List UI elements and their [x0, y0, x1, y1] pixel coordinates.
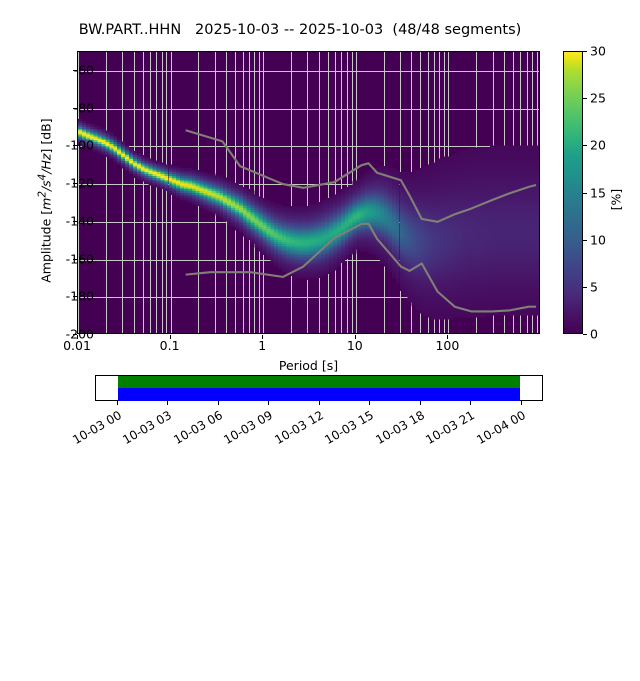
colorbar-tick-label: 25	[590, 91, 606, 106]
x-tick-label: 0.1	[160, 338, 180, 353]
data-coverage-timeline[interactable]	[95, 375, 543, 401]
colorbar-tick-label: 15	[590, 185, 606, 200]
y-axis-title: Amplitude [m2/s4/Hz] [dB]	[36, 71, 53, 331]
y-axis-title-text: Amplitude [	[39, 210, 54, 283]
colorbar-tick-label: 5	[590, 279, 598, 294]
colorbar-tick-label: 0	[590, 327, 598, 342]
psd-histogram	[78, 52, 539, 333]
psd-segment-coverage-bar	[118, 376, 520, 388]
x-axis-title: Period [s]	[77, 358, 540, 373]
x-tick-label: 0.01	[63, 338, 91, 353]
colorbar-title: [%]	[609, 140, 624, 260]
colorbar-tick-label: 30	[590, 44, 606, 59]
colorbar-tick-label: 20	[590, 138, 606, 153]
x-tick-label: 100	[435, 338, 459, 353]
x-tick-label: 1	[258, 338, 266, 353]
colorbar[interactable]	[563, 51, 583, 334]
colorbar-tick-label: 10	[590, 232, 606, 247]
plot-title: BW.PART..HHN 2025-10-03 -- 2025-10-03 (4…	[0, 22, 600, 38]
ppsd-figure: BW.PART..HHN 2025-10-03 -- 2025-10-03 (4…	[0, 0, 640, 480]
data-availability-bar	[118, 388, 520, 401]
ppsd-axes[interactable]	[77, 51, 540, 334]
x-tick-label: 10	[347, 338, 363, 353]
ppsd-plot-area	[78, 52, 539, 333]
